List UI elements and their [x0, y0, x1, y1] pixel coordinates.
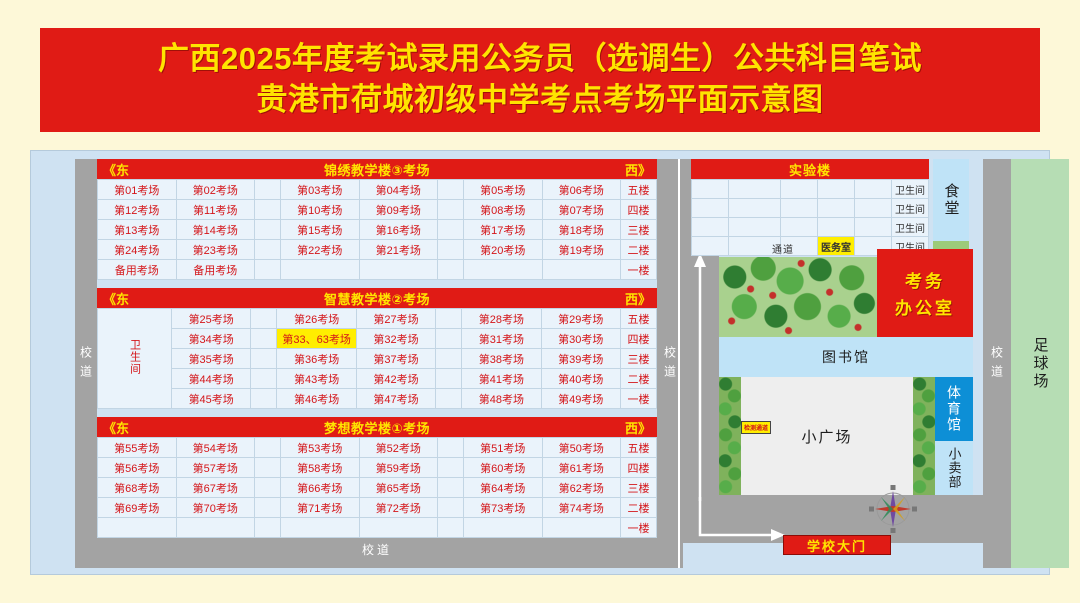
- empty-room-cell: [781, 218, 818, 237]
- empty-room-cell: [692, 237, 729, 256]
- room-cell: 第55考场: [98, 438, 177, 458]
- stairwell-gap-cell: [438, 458, 464, 478]
- building-title-1: 锦绣教学楼③考场: [97, 160, 657, 179]
- room-cell: 第14考场: [176, 220, 255, 240]
- room-cell: 第36考场: [277, 349, 356, 369]
- room-cell: 第52考场: [359, 438, 438, 458]
- building-header-1: 《东锦绣教学楼③考场西》: [97, 159, 657, 179]
- room-cell: 第08考场: [464, 200, 543, 220]
- table-row: 卫生间: [692, 218, 929, 237]
- school-gate: 学校大门: [783, 535, 891, 555]
- campus-plan: 实验楼 卫生间卫生间卫生间医务室卫生间 食堂 通道 考务 办公室 图书馆 小广场…: [683, 159, 983, 568]
- road-left-label: 校道: [78, 343, 95, 384]
- room-cell: 第13考场: [98, 220, 177, 240]
- floor-label-cell: 五楼: [621, 180, 657, 200]
- room-cell: 第03考场: [281, 180, 360, 200]
- room-cell: 第48考场: [462, 389, 541, 409]
- room-cell: 第50考场: [542, 438, 621, 458]
- room-cell: 第28考场: [462, 309, 541, 329]
- room-cell: 第26考场: [277, 309, 356, 329]
- stairwell-gap-cell: [436, 329, 462, 349]
- room-cell: 第31考场: [462, 329, 541, 349]
- room-cell: 第61考场: [542, 458, 621, 478]
- room-cell: 第45考场: [172, 389, 251, 409]
- stairwell-gap-cell: [255, 438, 281, 458]
- floor-label-cell: 四楼: [621, 458, 657, 478]
- room-cell: 第64考场: [464, 478, 543, 498]
- room-cell: 第57考场: [176, 458, 255, 478]
- campus-map: 校道 校道 校道 足球场 校道 《东锦绣教学楼③考场西》第01考场第02考场第0…: [30, 150, 1050, 575]
- building-room-table-1: 第01考场第02考场第03考场第04考场第05考场第06考场五楼第12考场第11…: [97, 179, 657, 280]
- empty-room-cell: [542, 260, 621, 280]
- stairwell-gap-cell: [251, 329, 277, 349]
- room-cell: 备用考场: [176, 260, 255, 280]
- room-cell: 第18考场: [542, 220, 621, 240]
- room-cell: 第58考场: [281, 458, 360, 478]
- room-cell: 第39考场: [541, 349, 620, 369]
- empty-room-cell: [464, 260, 543, 280]
- stairwell-gap-cell: [255, 478, 281, 498]
- table-row: 第45考场第46考场第47考场第48考场第49考场一楼: [98, 389, 657, 409]
- stairwell-gap-cell: [438, 180, 464, 200]
- room-cell: 第35考场: [172, 349, 251, 369]
- empty-room-cell: [359, 518, 438, 538]
- table-row: 第69考场第70考场第71考场第72考场第73考场第74考场二楼: [98, 498, 657, 518]
- table-row: 一楼: [98, 518, 657, 538]
- empty-room-cell: [855, 218, 892, 237]
- empty-room-cell: [542, 518, 621, 538]
- stairwell-gap-cell: [251, 389, 277, 409]
- room-cell: 第34考场: [172, 329, 251, 349]
- shop-block: 小卖部: [935, 441, 973, 495]
- empty-room-cell: [781, 180, 818, 199]
- road-left: 校道: [75, 159, 97, 568]
- exam-office-line-1: 考务: [905, 267, 945, 292]
- empty-room-cell: [692, 199, 729, 218]
- table-row: 第56考场第57考场第58考场第59考场第60考场第61考场四楼: [98, 458, 657, 478]
- compass-rose-icon: [869, 485, 917, 533]
- empty-room-cell: [98, 518, 177, 538]
- football-field-label: 足球场: [1030, 337, 1051, 391]
- stairwell-gap-cell: [436, 349, 462, 369]
- restroom-cell: 卫生间: [892, 199, 929, 218]
- table-row: 第68考场第67考场第66考场第65考场第64考场第62考场三楼: [98, 478, 657, 498]
- table-row: 第44考场第43考场第42考场第41考场第40考场二楼: [98, 369, 657, 389]
- stairwell-gap-cell: [438, 220, 464, 240]
- garden-area: [719, 257, 877, 337]
- football-field: 足球场: [1011, 159, 1069, 568]
- room-cell: 第09考场: [359, 200, 438, 220]
- room-cell: 第44考场: [172, 369, 251, 389]
- room-cell: 第71考场: [281, 498, 360, 518]
- room-cell: 第20考场: [464, 240, 543, 260]
- empty-room-cell: [728, 218, 780, 237]
- room-cell: 第30考场: [541, 329, 620, 349]
- exam-office-line-2: 办公室: [895, 294, 955, 319]
- detection-channel-tag: 检测通道: [741, 421, 771, 434]
- room-cell: 第47考场: [356, 389, 435, 409]
- empty-room-cell: [359, 260, 438, 280]
- table-row: 第01考场第02考场第03考场第04考场第05考场第06考场五楼: [98, 180, 657, 200]
- table-row: 第13考场第14考场第15考场第16考场第17考场第18考场三楼: [98, 220, 657, 240]
- exam-office-block: 考务 办公室: [877, 249, 973, 337]
- empty-room-cell: [692, 218, 729, 237]
- room-cell: 第33、63考场: [277, 329, 356, 349]
- building-header-3: 《东梦想教学楼①考场西》: [97, 417, 657, 437]
- hedge-right: [913, 377, 935, 495]
- empty-room-cell: [818, 218, 855, 237]
- stairwell-gap-cell: [251, 309, 277, 329]
- floor-label-cell: 五楼: [621, 309, 657, 329]
- room-cell: 第06考场: [542, 180, 621, 200]
- room-cell: 第41考场: [462, 369, 541, 389]
- room-cell: 第07考场: [542, 200, 621, 220]
- table-row: 第24考场第23考场第22考场第21考场第20考场第19考场二楼: [98, 240, 657, 260]
- room-cell: 第60考场: [464, 458, 543, 478]
- room-cell: 第46考场: [277, 389, 356, 409]
- room-cell: 第17考场: [464, 220, 543, 240]
- road-middle: 校道: [657, 159, 683, 568]
- room-cell: 第21考场: [359, 240, 438, 260]
- floor-label-cell: 四楼: [621, 329, 657, 349]
- room-cell: 第62考场: [542, 478, 621, 498]
- room-cell: 第02考场: [176, 180, 255, 200]
- empty-room-cell: [281, 260, 360, 280]
- stairwell-gap-cell: [438, 240, 464, 260]
- room-cell: 第59考场: [359, 458, 438, 478]
- stairwell-gap-cell: [438, 260, 464, 280]
- stairwell-gap-cell: [255, 518, 281, 538]
- restroom-cell: 卫生间: [98, 309, 172, 409]
- table-row: 卫生间: [692, 180, 929, 199]
- room-cell: 第12考场: [98, 200, 177, 220]
- room-cell: 第29考场: [541, 309, 620, 329]
- room-cell: 第38考场: [462, 349, 541, 369]
- empty-room-cell: [176, 518, 255, 538]
- floor-label-cell: 二楼: [621, 498, 657, 518]
- room-cell: 第40考场: [541, 369, 620, 389]
- room-cell: 第67考场: [176, 478, 255, 498]
- table-row: 卫生间第25考场第26考场第27考场第28考场第29考场五楼: [98, 309, 657, 329]
- road-right-label: 校道: [989, 343, 1006, 384]
- table-row: 第12考场第11考场第10考场第09考场第08考场第07考场四楼: [98, 200, 657, 220]
- floor-label-cell: 三楼: [621, 349, 657, 369]
- floor-label-cell: 三楼: [621, 478, 657, 498]
- room-cell: 第49考场: [541, 389, 620, 409]
- table-row: 卫生间: [692, 199, 929, 218]
- room-cell: 第56考场: [98, 458, 177, 478]
- room-cell: 第05考场: [464, 180, 543, 200]
- empty-room-cell: [464, 518, 543, 538]
- room-cell: 第25考场: [172, 309, 251, 329]
- room-cell: 第53考场: [281, 438, 360, 458]
- room-cell: 第42考场: [356, 369, 435, 389]
- floor-label-cell: 三楼: [621, 220, 657, 240]
- hedge-left: [719, 377, 741, 495]
- room-cell: 第51考场: [464, 438, 543, 458]
- room-cell: 第65考场: [359, 478, 438, 498]
- room-cell: 第22考场: [281, 240, 360, 260]
- floor-label-cell: 五楼: [621, 438, 657, 458]
- room-cell: 第16考场: [359, 220, 438, 240]
- plaza-block: 小广场: [719, 377, 935, 495]
- direction-arrow-up-icon: [691, 251, 709, 501]
- room-cell: 第69考场: [98, 498, 177, 518]
- room-cell: 第70考场: [176, 498, 255, 518]
- direction-arrow-right-icon: [691, 495, 787, 543]
- passage-label: 通道: [743, 241, 823, 257]
- empty-room-cell: [281, 518, 360, 538]
- room-cell: 第74考场: [542, 498, 621, 518]
- restroom-cell: 卫生间: [892, 180, 929, 199]
- table-row: 第55考场第54考场第53考场第52考场第51考场第50考场五楼: [98, 438, 657, 458]
- stairwell-gap-cell: [438, 498, 464, 518]
- empty-room-cell: [818, 180, 855, 199]
- empty-room-cell: [692, 180, 729, 199]
- floor-label-cell: 二楼: [621, 240, 657, 260]
- medical-room-cell: 医务室: [818, 237, 855, 256]
- title-banner: 广西2025年度考试录用公务员（选调生）公共科目笔试 贵港市荷城初级中学考点考场…: [40, 28, 1040, 132]
- stairwell-gap-cell: [436, 369, 462, 389]
- room-cell: 第72考场: [359, 498, 438, 518]
- room-cell: 第19考场: [542, 240, 621, 260]
- room-cell: 第37考场: [356, 349, 435, 369]
- room-cell: 第43考场: [277, 369, 356, 389]
- stairwell-gap-cell: [438, 438, 464, 458]
- stairwell-gap-cell: [438, 478, 464, 498]
- empty-room-cell: [855, 199, 892, 218]
- room-cell: 备用考场: [98, 260, 177, 280]
- room-cell: 第73考场: [464, 498, 543, 518]
- room-cell: 第24考场: [98, 240, 177, 260]
- building-block-2: 《东智慧教学楼②考场西》卫生间第25考场第26考场第27考场第28考场第29考场…: [97, 288, 657, 409]
- gym-label: 体育馆: [944, 385, 964, 433]
- road-middle-label: 校道: [662, 343, 679, 384]
- stairwell-gap-cell: [255, 220, 281, 240]
- stairwell-gap-cell: [255, 260, 281, 280]
- building-title-2: 智慧教学楼②考场: [97, 289, 657, 308]
- room-cell: 第23考场: [176, 240, 255, 260]
- building-room-table-3: 第55考场第54考场第53考场第52考场第51考场第50考场五楼第56考场第57…: [97, 437, 657, 538]
- stairwell-gap-cell: [251, 369, 277, 389]
- floor-label-cell: 二楼: [621, 369, 657, 389]
- room-cell: 第66考场: [281, 478, 360, 498]
- table-row: 备用考场备用考场一楼: [98, 260, 657, 280]
- building-title-3: 梦想教学楼①考场: [97, 418, 657, 437]
- floor-label-cell: 一楼: [621, 389, 657, 409]
- stairwell-gap-cell: [255, 458, 281, 478]
- canteen-block: 食堂: [933, 159, 969, 241]
- stairwell-gap-cell: [255, 498, 281, 518]
- stairwell-gap-cell: [438, 518, 464, 538]
- empty-room-cell: [818, 199, 855, 218]
- room-cell: 第10考场: [281, 200, 360, 220]
- stairwell-gap-cell: [255, 180, 281, 200]
- stairwell-gap-cell: [255, 200, 281, 220]
- room-cell: 第27考场: [356, 309, 435, 329]
- building-block-1: 《东锦绣教学楼③考场西》第01考场第02考场第03考场第04考场第05考场第06…: [97, 159, 657, 280]
- title-line-1: 广西2025年度考试录用公务员（选调生）公共科目笔试: [158, 40, 922, 79]
- empty-room-cell: [855, 180, 892, 199]
- stairwell-gap-cell: [436, 309, 462, 329]
- floor-label-cell: 四楼: [621, 200, 657, 220]
- road-right: 校道: [983, 159, 1011, 568]
- room-cell: 第11考场: [176, 200, 255, 220]
- stairwell-gap-cell: [436, 389, 462, 409]
- stairwell-gap-cell: [438, 200, 464, 220]
- table-row: 第35考场第36考场第37考场第38考场第39考场三楼: [98, 349, 657, 369]
- library-block: 图书馆: [719, 337, 973, 377]
- building-room-table-2: 卫生间第25考场第26考场第27考场第28考场第29考场五楼第34考场第33、6…: [97, 308, 657, 409]
- room-cell: 第32考场: [356, 329, 435, 349]
- building-block-3: 《东梦想教学楼①考场西》第55考场第54考场第53考场第52考场第51考场第50…: [97, 417, 657, 538]
- room-cell: 第68考场: [98, 478, 177, 498]
- empty-room-cell: [781, 199, 818, 218]
- lab-building-title: 实验楼: [691, 159, 929, 179]
- empty-room-cell: [728, 199, 780, 218]
- empty-room-cell: [728, 180, 780, 199]
- restroom-cell: 卫生间: [892, 218, 929, 237]
- floor-label-cell: 一楼: [621, 518, 657, 538]
- room-cell: 第04考场: [359, 180, 438, 200]
- shop-label: 小卖部: [945, 447, 964, 489]
- floor-label-cell: 一楼: [621, 260, 657, 280]
- room-cell: 第15考场: [281, 220, 360, 240]
- table-row: 第34考场第33、63考场第32考场第31考场第30考场四楼: [98, 329, 657, 349]
- canteen-label: 食堂: [941, 183, 962, 217]
- room-cell: 第54考场: [176, 438, 255, 458]
- building-tables: 《东锦绣教学楼③考场西》第01考场第02考场第03考场第04考场第05考场第06…: [97, 159, 657, 546]
- room-cell: 第01考场: [98, 180, 177, 200]
- gym-block: 体育馆: [935, 377, 973, 441]
- stairwell-gap-cell: [255, 240, 281, 260]
- title-line-2: 贵港市荷城初级中学考点考场平面示意图: [257, 81, 824, 120]
- building-header-2: 《东智慧教学楼②考场西》: [97, 288, 657, 308]
- restroom-label: 卫生间: [127, 339, 143, 375]
- stairwell-gap-cell: [251, 349, 277, 369]
